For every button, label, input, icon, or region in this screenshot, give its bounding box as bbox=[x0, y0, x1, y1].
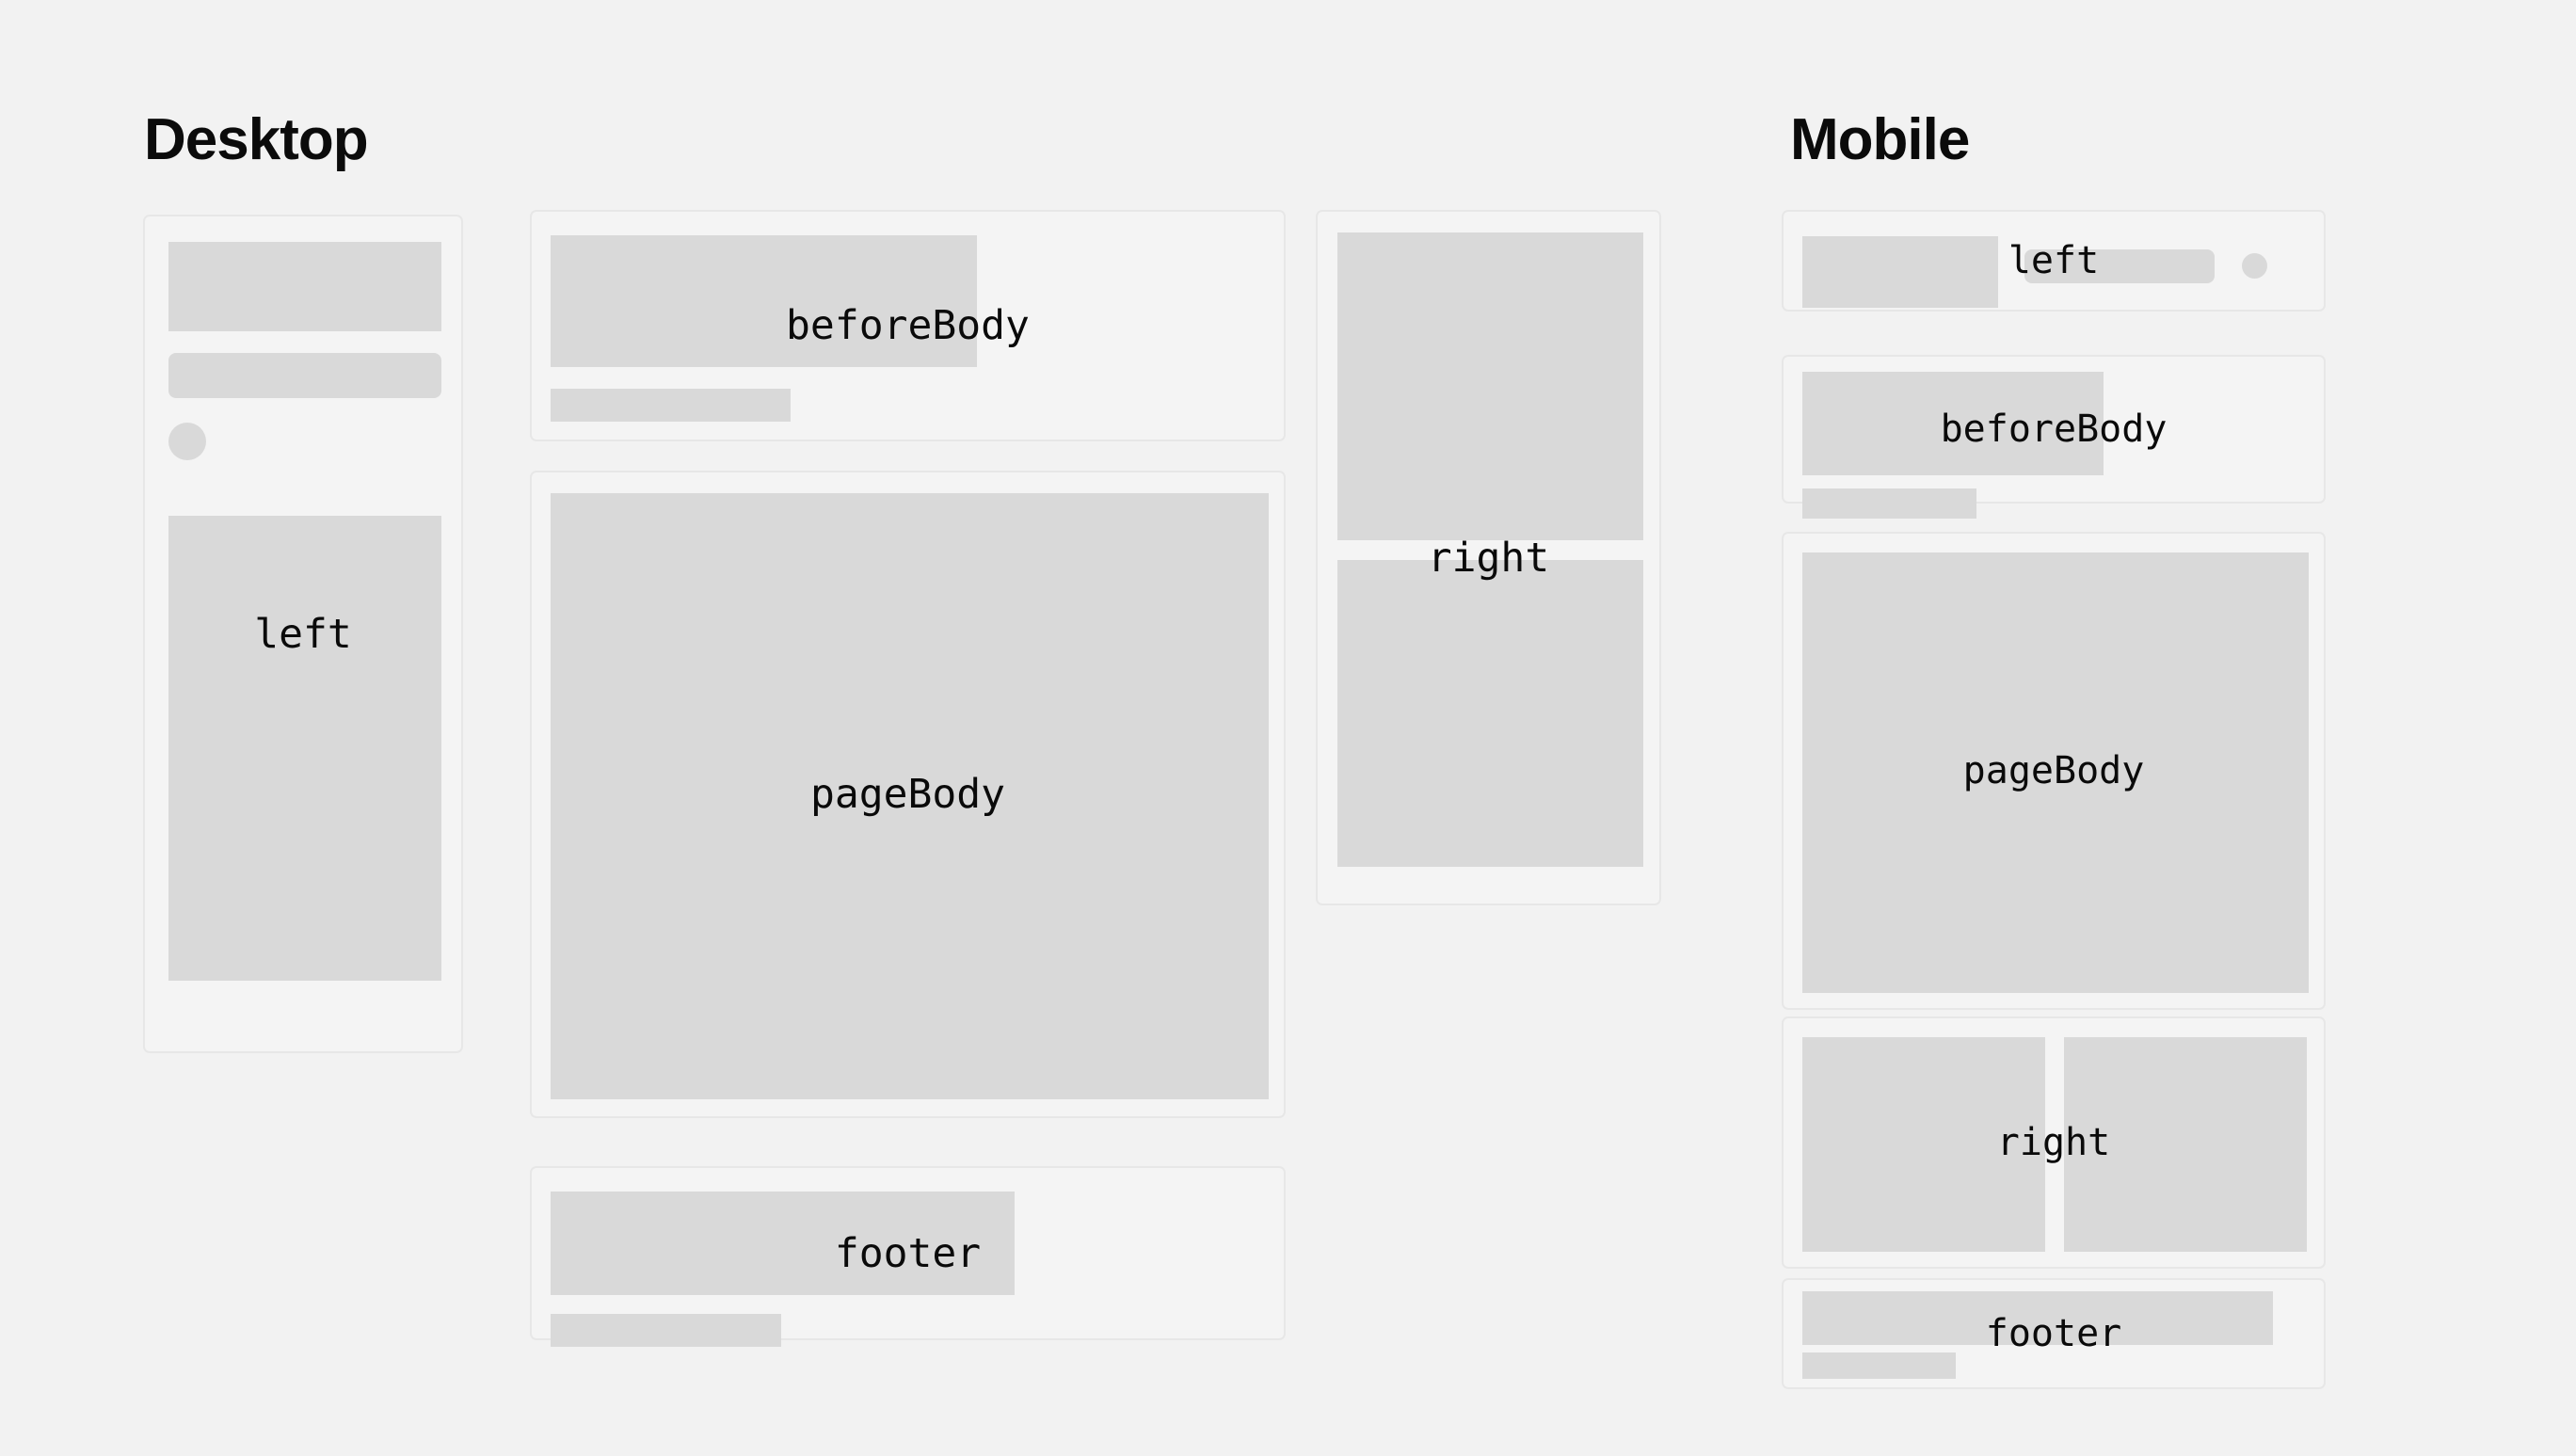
mobile-region-before-body[interactable]: beforeBody bbox=[1782, 355, 2326, 504]
mobile-region-page-body[interactable]: pageBody bbox=[1782, 532, 2326, 1010]
skeleton-block bbox=[168, 516, 441, 981]
mobile-region-footer[interactable]: footer bbox=[1782, 1278, 2326, 1389]
desktop-region-page-body[interactable]: pageBody bbox=[530, 471, 1286, 1118]
skeleton-block bbox=[1802, 236, 1998, 308]
skeleton-pill bbox=[2024, 249, 2215, 283]
skeleton-avatar-circle bbox=[2242, 253, 2267, 279]
skeleton-block bbox=[1337, 232, 1643, 540]
skeleton-avatar-circle bbox=[168, 423, 206, 460]
skeleton-block bbox=[551, 1314, 781, 1347]
page-title-mobile: Mobile bbox=[1790, 111, 1969, 169]
desktop-region-footer[interactable]: footer bbox=[530, 1166, 1286, 1340]
skeleton-block bbox=[1802, 1037, 2045, 1252]
skeleton-block bbox=[1802, 1291, 2273, 1345]
skeleton-pill bbox=[168, 353, 441, 398]
mobile-region-right[interactable]: right bbox=[1782, 1016, 2326, 1269]
skeleton-block bbox=[551, 235, 977, 367]
page-title-desktop: Desktop bbox=[144, 111, 368, 169]
desktop-region-right[interactable]: right bbox=[1316, 210, 1661, 905]
skeleton-block bbox=[1337, 560, 1643, 867]
mobile-region-left[interactable]: left bbox=[1782, 210, 2326, 312]
desktop-region-left[interactable]: left bbox=[143, 215, 463, 1053]
desktop-region-before-body[interactable]: beforeBody bbox=[530, 210, 1286, 441]
skeleton-block bbox=[1802, 552, 2309, 993]
skeleton-block bbox=[1802, 1352, 1956, 1379]
skeleton-block bbox=[551, 1192, 1015, 1295]
skeleton-block bbox=[1802, 488, 1976, 519]
skeleton-block bbox=[2064, 1037, 2307, 1252]
skeleton-block bbox=[551, 389, 791, 422]
skeleton-block bbox=[1802, 372, 2104, 475]
skeleton-block bbox=[168, 242, 441, 331]
skeleton-block bbox=[551, 493, 1269, 1099]
